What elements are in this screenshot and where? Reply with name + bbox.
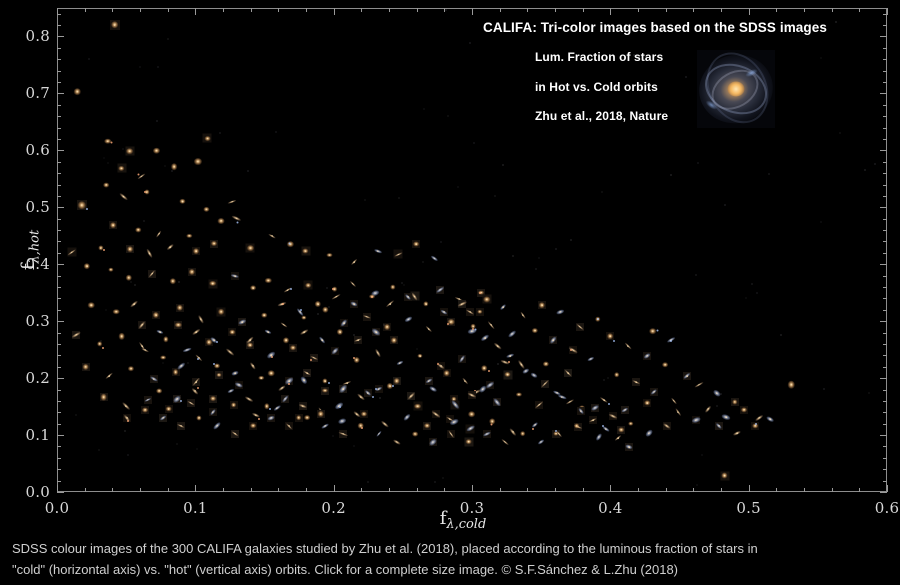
galaxy-nucleus — [521, 364, 523, 366]
galaxy-nucleus — [338, 406, 340, 408]
galaxy-thumbnail-e — [117, 164, 126, 173]
galaxy-light-profile — [218, 218, 225, 224]
thumbnail-background — [360, 410, 368, 418]
y-major-tick — [57, 93, 64, 94]
x-minor-tick-top — [444, 8, 445, 12]
x-minor-tick — [85, 488, 86, 492]
galaxy-thumbnail-s — [458, 300, 466, 308]
galaxy-light-profile — [231, 371, 239, 377]
caption-line-2: "cold" (horizontal axis) vs. "hot" (vert… — [12, 559, 892, 580]
galaxy-thumbnail-s — [624, 342, 632, 350]
y-minor-tick-right — [883, 82, 887, 83]
galaxy-nucleus — [197, 161, 199, 163]
y-minor-tick — [57, 241, 61, 242]
galaxy-nucleus — [604, 399, 606, 401]
thumbnail-background — [468, 391, 476, 399]
galaxy-thumbnail-b — [235, 381, 243, 389]
galaxy-thumbnail-s — [674, 408, 682, 416]
y-tick-label: 0.3 — [8, 312, 50, 330]
thumbnail-background — [304, 281, 313, 290]
sky-noise-speck — [440, 241, 442, 243]
galaxy-nucleus — [182, 201, 184, 203]
galaxy-nucleus — [490, 324, 492, 326]
galaxy-light-profile — [595, 432, 603, 441]
foreground-star-speck — [282, 303, 284, 305]
foreground-star-speck — [580, 411, 582, 413]
galaxy-nucleus — [754, 425, 756, 427]
galaxy-nucleus — [342, 389, 344, 391]
galaxy-thumbnail-s — [466, 308, 474, 316]
galaxy-light-profile — [632, 380, 640, 385]
sky-noise-speck — [364, 199, 366, 201]
thumbnail-background — [549, 336, 557, 344]
y-major-tick — [57, 435, 64, 436]
galaxy-light-profile — [261, 313, 267, 318]
sky-noise-speck — [716, 405, 718, 407]
galaxy-light-profile — [212, 421, 221, 430]
galaxy-thumbnail-b — [458, 355, 466, 363]
galaxy-light-profile — [247, 343, 253, 348]
galaxy-light-profile — [340, 319, 348, 328]
galaxy-thumbnail-e — [185, 232, 193, 240]
galaxy-nucleus — [140, 176, 142, 178]
galaxy-nucleus — [427, 425, 429, 427]
galaxy-nucleus — [129, 151, 131, 153]
sky-noise-speck — [139, 66, 141, 68]
sky-noise-speck — [447, 115, 449, 117]
galaxy-light-profile — [482, 431, 491, 437]
sky-noise-speck — [379, 397, 381, 399]
galaxy-thumbnail-s — [141, 346, 149, 354]
galaxy-light-profile — [435, 286, 444, 293]
galaxy-light-profile — [206, 339, 212, 345]
galaxy-light-profile — [506, 353, 514, 359]
galaxy-nucleus — [461, 303, 463, 305]
y-minor-tick-right — [883, 139, 887, 140]
y-minor-tick — [57, 367, 61, 368]
galaxy-light-profile — [424, 423, 430, 429]
galaxy-thumbnail-e — [538, 301, 546, 309]
galaxy-light-profile — [286, 423, 292, 429]
galaxy-light-profile — [448, 430, 455, 438]
galaxy-thumbnail-s — [509, 428, 517, 436]
galaxy-light-profile — [418, 354, 423, 358]
galaxy-thumbnail-s — [105, 372, 113, 380]
galaxy-nucleus — [475, 391, 477, 393]
galaxy-nucleus — [178, 324, 180, 326]
sky-noise-speck — [171, 170, 173, 172]
y-minor-tick-right — [883, 71, 887, 72]
galaxy-light-profile — [376, 430, 382, 437]
galaxy-thumbnail-s — [148, 270, 156, 278]
galaxy-nucleus — [176, 398, 178, 400]
thumbnail-background — [295, 414, 303, 422]
galaxy-light-profile — [231, 430, 239, 437]
galaxy-nucleus — [511, 333, 513, 335]
foreground-star-speck — [670, 340, 672, 342]
galaxy-light-profile — [113, 309, 120, 315]
galaxy-nucleus — [533, 374, 535, 376]
galaxy-nucleus — [577, 426, 579, 428]
galaxy-light-profile — [532, 328, 538, 334]
galaxy-thumbnail-s — [663, 422, 671, 430]
galaxy-thumbnail-s — [501, 438, 509, 446]
sky-noise-speck — [317, 313, 319, 315]
galaxy-light-profile — [153, 148, 160, 154]
galaxy-nucleus — [572, 349, 574, 351]
galaxy-nucleus — [198, 417, 200, 419]
galaxy-thumbnail-s — [535, 401, 543, 409]
foreground-star-speck — [288, 383, 290, 385]
galaxy-nucleus — [439, 289, 441, 291]
x-minor-tick-top — [306, 8, 307, 12]
galaxy-nucleus — [580, 410, 582, 412]
thumbnail-background — [436, 286, 444, 294]
galaxy-nucleus — [266, 406, 268, 408]
sky-noise-speck — [768, 173, 770, 175]
sky-noise-speck — [745, 297, 747, 299]
galaxy-nucleus — [131, 368, 133, 370]
y-minor-tick-right — [883, 333, 887, 334]
galaxy-thumbnail-b — [436, 286, 444, 294]
y-major-tick — [57, 264, 64, 265]
sky-noise-speck — [332, 435, 334, 437]
galaxy-light-profile — [269, 233, 277, 238]
galaxy-light-profile — [446, 416, 454, 422]
galaxy-nucleus — [324, 309, 326, 311]
galaxy-nucleus — [743, 409, 745, 411]
galaxy-thumbnail-s — [564, 369, 572, 377]
x-minor-tick — [693, 488, 694, 492]
galaxy-nucleus — [196, 250, 198, 252]
x-minor-tick-top — [389, 8, 390, 12]
thumbnail-background — [538, 301, 546, 309]
thumbnail-background — [67, 248, 76, 257]
x-minor-tick — [140, 488, 141, 492]
galaxy-nucleus — [435, 414, 437, 416]
galaxy-light-profile — [82, 364, 89, 370]
foreground-star-speck — [532, 428, 534, 430]
galaxy-nucleus — [612, 415, 614, 417]
galaxy-nucleus — [175, 372, 177, 374]
thumbnail-background — [412, 240, 420, 248]
galaxy-nucleus — [71, 251, 73, 253]
galaxy-light-profile — [361, 411, 367, 416]
galaxy-thumbnail-b — [645, 429, 653, 437]
sky-noise-speck — [326, 287, 328, 289]
galaxy-light-profile — [520, 431, 526, 437]
thumbnail-background — [203, 134, 212, 143]
x-tick-label: 0.4 — [598, 499, 622, 517]
galaxy-nucleus — [252, 287, 254, 289]
galaxy-thumbnail-e — [264, 277, 272, 285]
y-tick-label: 0.6 — [8, 141, 50, 159]
galaxy-light-profile — [721, 414, 731, 422]
galaxy-nucleus — [155, 315, 157, 317]
galaxy-nucleus — [366, 316, 368, 318]
galaxy-light-profile — [118, 166, 124, 171]
sky-noise-speck — [696, 484, 698, 486]
galaxy-light-profile — [484, 296, 490, 302]
thumbnail-background — [577, 407, 585, 415]
galaxy-light-profile — [330, 346, 338, 354]
galaxy-nucleus — [497, 345, 499, 347]
galaxy-light-profile — [440, 309, 447, 315]
thumbnail-background — [663, 422, 671, 430]
foreground-star-speck — [488, 370, 490, 372]
y-minor-tick-right — [883, 25, 887, 26]
x-axis-label: fλ,cold — [440, 508, 487, 532]
galaxy-nucleus — [317, 303, 319, 305]
galaxy-thumbnail-b — [486, 381, 494, 389]
thumbnail-background — [217, 307, 226, 316]
galaxy-thumbnail-s — [310, 354, 318, 362]
galaxy-nucleus — [106, 184, 108, 186]
galaxy-thumbnail-e — [126, 245, 134, 253]
galaxy-thumbnail-b — [173, 395, 181, 403]
galaxy-nucleus — [324, 390, 326, 392]
galaxy-nucleus — [677, 411, 679, 413]
galaxy-light-profile — [264, 329, 272, 335]
sky-noise-speck — [88, 58, 90, 60]
galaxy-light-profile — [349, 280, 356, 287]
galaxy-light-profile — [110, 223, 116, 229]
galaxy-light-profile — [98, 246, 103, 251]
sky-noise-speck — [122, 148, 124, 150]
galaxy-light-profile — [431, 411, 440, 419]
x-minor-tick-top — [638, 8, 639, 12]
galaxy-nucleus — [234, 373, 236, 375]
galaxy-thumbnail-s — [381, 420, 389, 428]
galaxy-thumbnail-s — [280, 321, 288, 329]
galaxy-light-profile — [643, 352, 651, 359]
galaxy-nucleus — [759, 417, 761, 419]
galaxy-thumbnail-s — [455, 295, 463, 303]
galaxy-light-profile — [645, 400, 651, 405]
galaxy-thumbnail-b — [338, 417, 346, 425]
y-major-tick — [57, 321, 64, 322]
galaxy-thumbnail-s — [461, 377, 469, 385]
sky-noise-speck — [697, 162, 699, 164]
galaxy-light-profile — [318, 336, 325, 344]
thumbnail-background — [410, 292, 419, 301]
sky-noise-speck — [75, 414, 77, 416]
foreground-star-speck — [353, 357, 355, 359]
sky-noise-speck — [130, 281, 132, 283]
galaxy-thumbnail-s — [695, 381, 703, 389]
galaxy-thumbnail-e — [464, 437, 473, 446]
galaxy-light-profile — [302, 248, 308, 254]
galaxy-light-profile — [252, 412, 260, 418]
y-minor-tick-right — [883, 344, 887, 345]
galaxy-thumbnail-e — [336, 328, 344, 336]
galaxy-nucleus — [99, 343, 101, 345]
y-minor-tick-right — [883, 367, 887, 368]
galaxy-thumbnail-e — [300, 314, 308, 322]
galaxy-thumbnail-e — [165, 405, 173, 413]
thumbnail-background — [394, 250, 403, 259]
thumbnail-background — [209, 408, 217, 416]
thumbnail-background — [177, 422, 185, 430]
galaxy-light-profile — [404, 315, 413, 323]
x-minor-tick-top — [859, 8, 860, 12]
galaxy-thumbnail-e — [228, 328, 236, 336]
galaxy-thumbnail-s — [130, 300, 138, 308]
galaxy-light-profile — [160, 355, 166, 360]
galaxy-light-profile — [298, 404, 307, 409]
galaxy-nucleus — [220, 220, 222, 222]
galaxy-thumbnail-s — [517, 360, 526, 369]
galaxy-light-profile — [273, 405, 281, 412]
foreground-star-speck — [447, 323, 449, 325]
galaxy-nucleus — [420, 356, 422, 358]
galaxy-light-profile — [148, 270, 156, 278]
galaxy-light-profile — [121, 402, 130, 411]
galaxy-thumbnail-s — [231, 430, 239, 438]
galaxy-light-profile — [231, 274, 240, 279]
galaxy-light-profile — [618, 427, 624, 432]
galaxy-thumbnail-b — [650, 388, 658, 396]
galaxy-light-profile — [553, 432, 558, 437]
galaxy-light-profile — [733, 430, 742, 436]
galaxy-light-profile — [694, 381, 704, 388]
thumbnail-background — [109, 221, 117, 229]
galaxy-light-profile — [531, 421, 538, 428]
galaxy-nucleus — [593, 419, 595, 421]
x-minor-tick — [417, 488, 418, 492]
foreground-star-speck — [110, 141, 112, 143]
thumbnail-background — [589, 416, 597, 424]
galaxy-nucleus — [229, 351, 231, 353]
galaxy-light-profile — [210, 396, 216, 402]
galaxy-light-profile — [331, 293, 340, 300]
y-tick-label: 0.7 — [8, 84, 50, 102]
sky-noise-speck — [502, 164, 504, 166]
galaxy-nucleus — [357, 340, 359, 342]
galaxy-light-profile — [149, 376, 158, 383]
galaxy-light-profile — [193, 248, 199, 254]
galaxy-nucleus — [541, 304, 543, 306]
galaxy-light-profile — [97, 341, 103, 346]
sky-noise-speck — [383, 324, 385, 326]
y-minor-tick — [57, 253, 61, 254]
galaxy-nucleus — [432, 441, 434, 443]
galaxy-thumbnail-s — [432, 410, 440, 418]
thumbnail-background — [552, 430, 560, 438]
galaxy-thumbnail-b — [556, 308, 564, 316]
y-minor-tick — [57, 355, 61, 356]
thumbnail-background — [159, 414, 167, 422]
galaxy-thumbnail-s — [519, 311, 527, 319]
galaxy-nucleus — [449, 418, 451, 420]
foreground-star-speck — [216, 341, 218, 343]
galaxy-light-profile — [535, 401, 544, 409]
galaxy-nucleus — [471, 331, 473, 333]
galaxy-thumbnail-s — [609, 412, 617, 420]
galaxy-thumbnail-e — [141, 406, 149, 414]
galaxy-light-profile — [662, 362, 668, 367]
galaxy-thumbnail-e — [321, 387, 329, 395]
foreground-star-speck — [602, 425, 604, 427]
galaxy-nucleus — [479, 311, 481, 313]
galaxy-light-profile — [166, 244, 174, 251]
galaxy-light-profile — [704, 405, 711, 413]
galaxy-nucleus — [627, 345, 629, 347]
galaxy-light-profile — [732, 399, 737, 404]
thumbnail-background — [643, 352, 651, 360]
galaxy-nucleus — [555, 433, 557, 435]
x-minor-tick — [223, 488, 224, 492]
thumbnail-background — [429, 438, 437, 446]
galaxy-thumbnail-e — [169, 277, 177, 285]
galaxy-thumbnail-s — [755, 414, 763, 422]
galaxy-thumbnail-s — [232, 214, 241, 223]
galaxy-nucleus — [486, 433, 488, 435]
galaxy-thumbnail-b — [577, 407, 585, 415]
foreground-star-speck — [479, 292, 481, 294]
thumbnail-background — [715, 422, 723, 430]
galaxy-light-profile — [177, 361, 186, 369]
galaxy-thumbnail-s — [614, 434, 622, 442]
foreground-star-speck — [290, 288, 292, 290]
galaxy-nucleus — [425, 303, 427, 305]
thumbnail-background — [625, 443, 633, 451]
foreground-star-speck — [180, 400, 182, 402]
galaxy-thumbnail-b — [692, 416, 700, 424]
galaxy-nucleus — [503, 307, 505, 309]
galaxy-light-profile — [691, 416, 701, 423]
galaxy-thumbnail-e — [246, 244, 255, 253]
galaxy-thumbnail-e — [195, 414, 203, 422]
galaxy-nucleus — [334, 288, 336, 290]
x-major-tick — [195, 485, 196, 492]
galaxy-light-profile — [104, 182, 110, 187]
galaxy-light-profile — [425, 378, 433, 384]
thumbnail-background — [230, 401, 238, 409]
thumbnail-background — [72, 331, 80, 339]
galaxy-light-profile — [521, 367, 529, 374]
galaxy-nucleus — [371, 296, 373, 298]
y-minor-tick — [57, 219, 61, 220]
galaxy-light-profile — [666, 337, 675, 344]
galaxy-nucleus — [504, 441, 506, 443]
thumbnail-background — [285, 377, 293, 385]
x-major-tick — [887, 485, 888, 492]
galaxy-light-profile — [305, 283, 312, 288]
galaxy-thumbnail-s — [317, 407, 325, 415]
galaxy-light-profile — [466, 309, 475, 315]
galaxy-nucleus — [544, 383, 546, 385]
galaxy-light-profile — [787, 381, 794, 388]
thumbnail-background — [231, 430, 239, 438]
galaxy-light-profile — [250, 423, 256, 429]
galaxy-light-profile — [369, 294, 375, 299]
galaxy-nucleus — [406, 416, 408, 418]
galaxy-nucleus — [298, 417, 300, 419]
thumbnail-background — [393, 377, 401, 385]
galaxy-thumbnail-b — [766, 415, 774, 423]
galaxy-nucleus — [504, 361, 506, 363]
galaxy-light-profile — [481, 334, 491, 343]
galaxy-nucleus — [276, 407, 278, 409]
galaxy-thumbnail-e — [249, 284, 257, 292]
caption-line-1: SDSS colour images of the 300 CALIFA gal… — [12, 538, 892, 559]
x-major-tick-top — [334, 8, 335, 15]
thumbnail-background — [165, 405, 173, 413]
galaxy-thumbnail-e — [118, 332, 126, 340]
galaxy-light-profile — [662, 422, 670, 429]
sky-noise-speck — [275, 131, 277, 133]
